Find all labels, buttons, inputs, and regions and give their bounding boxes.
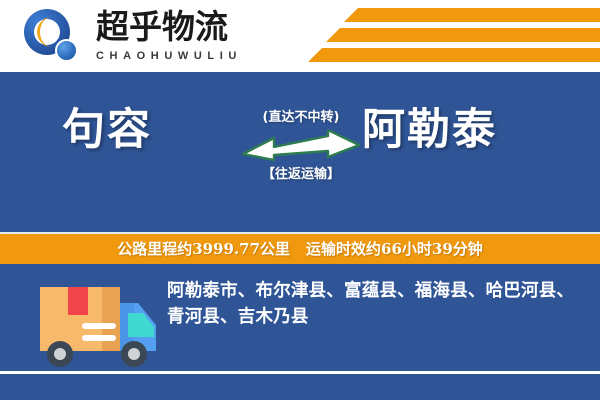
road-distance-text: 公路里程约3999.77公里 [117,238,290,259]
route-roundtrip-label: 【往返运输】 [238,167,364,183]
brand-name-en: CHAOHUWULIU [96,49,276,63]
brand-block: 超乎物流 CHAOHUWULIU [96,8,276,63]
info-bar-divider [0,232,600,234]
company-logo-icon [24,9,82,65]
orange-speed-stripes-icon [270,8,600,66]
trip-info-bar: 公路里程约3999.77公里 运输时效约66小时39分钟 [0,232,600,264]
route-direct-label: (直达不中转) [238,110,364,126]
destination-city: 阿勒泰 [362,95,497,157]
logistics-route-banner: 超乎物流 CHAOHUWULIU 句容 阿勒泰 (直达不中转) 【往返运输】 公… [0,0,600,400]
route-arrow-group: (直达不中转) 【往返运输】 [238,110,364,200]
bottom-divider [0,371,600,374]
origin-city: 句容 [62,95,152,157]
brand-name-cn: 超乎物流 [96,8,276,46]
delivery-truck-icon [30,275,170,370]
transit-time-text: 运输时效约66小时39分钟 [306,238,483,259]
logo-accent-dot [55,39,78,62]
bidirectional-arrow-icon [240,130,362,164]
banner-header: 超乎物流 CHAOHUWULIU [0,0,600,72]
coverage-areas-text: 阿勒泰市、布尔津县、富蕴县、福海县、哈巴河县、青河县、吉木乃县 [167,278,587,330]
